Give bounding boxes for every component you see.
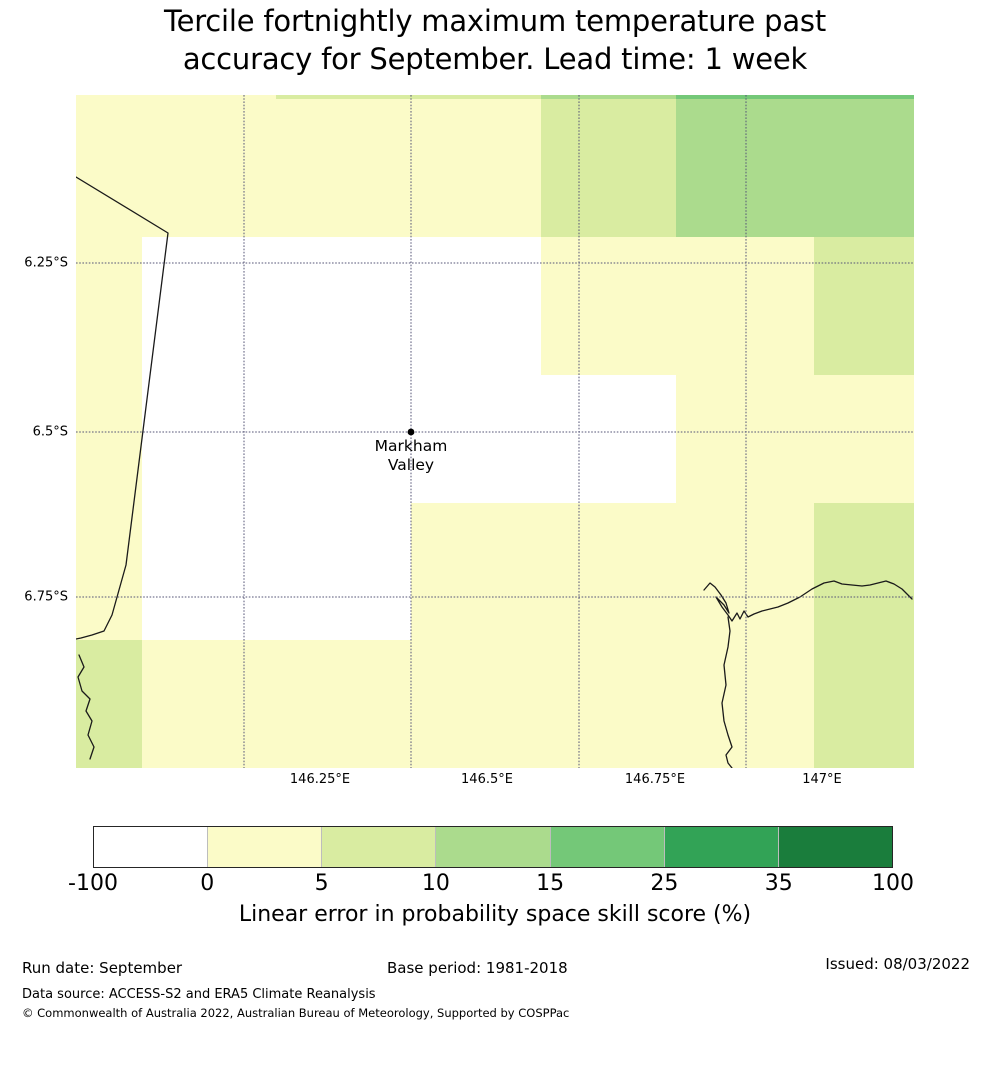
- page-title-line-1: Tercile fortnightly maximum temperature …: [0, 2, 990, 40]
- city-label-line-1: Markham: [375, 437, 448, 455]
- heatmap-cell: [814, 327, 914, 375]
- colorbar-tick-label-3: 10: [422, 872, 450, 896]
- base-period-text: Base period: 1981-2018: [387, 958, 568, 978]
- heatmap-cell: [76, 597, 142, 640]
- heatmap-cell: [411, 597, 814, 640]
- page-title: Tercile fortnightly maximum temperature …: [0, 0, 990, 78]
- colorbar-gradient[interactable]: [93, 826, 893, 868]
- run-date-text: Run date: September: [22, 958, 182, 978]
- heatmap-cell: [541, 95, 676, 99]
- colorbar-tick-label-7: 100: [872, 872, 914, 896]
- data-source-text: Data source: ACCESS-S2 and ERA5 Climate …: [22, 986, 376, 1003]
- colorbar-tick-label-6: 35: [765, 872, 793, 896]
- heatmap-cell: [276, 95, 541, 99]
- longitude-tick-label-3: 147°E: [802, 773, 842, 786]
- colorbar-segment-5[interactable]: [665, 827, 779, 867]
- colorbar-segment-3[interactable]: [436, 827, 550, 867]
- colorbar-tick-label-2: 5: [315, 872, 329, 896]
- skill-score-map[interactable]: Markham Valley: [76, 95, 914, 768]
- heatmap-cell: [814, 597, 914, 640]
- heatmap-cell: [76, 99, 541, 237]
- colorbar-tick-label-5: 25: [650, 872, 678, 896]
- heatmap-cell: [541, 327, 814, 375]
- longitude-tick-label-2: 146.75°E: [625, 773, 685, 786]
- colorbar-segment-4[interactable]: [551, 827, 665, 867]
- heatmap-cell: [76, 375, 142, 503]
- footer-top-row: Run date: September Base period: 1981-20…: [0, 958, 990, 982]
- heatmap-cell: [814, 503, 914, 597]
- heatmap-cell: [541, 237, 814, 327]
- colorbar-tick-label-1: 0: [200, 872, 214, 896]
- heatmap-cell: [541, 99, 641, 237]
- heatmap-cell: [676, 95, 914, 99]
- city-marker-dot[interactable]: [408, 429, 415, 436]
- heatmap-cell: [676, 375, 914, 503]
- map-canvas[interactable]: Markham Valley: [76, 95, 914, 768]
- colorbar: -1000510152535100 Linear error in probab…: [0, 826, 990, 931]
- colorbar-segment-0[interactable]: [94, 827, 208, 867]
- heatmap-cell: [142, 327, 541, 375]
- heatmap-cell: [411, 503, 814, 597]
- colorbar-title: Linear error in probability space skill …: [0, 902, 990, 928]
- longitude-tick-label-0: 146.25°E: [290, 773, 350, 786]
- heatmap-cell: [814, 237, 914, 327]
- colorbar-tick-label-4: 15: [536, 872, 564, 896]
- heatmap-cell: [142, 640, 814, 768]
- heatmap-cell: [76, 237, 142, 327]
- heatmap-cell: [676, 99, 914, 237]
- colorbar-segment-6[interactable]: [779, 827, 892, 867]
- city-label-line-2: Valley: [388, 456, 434, 474]
- heatmap-cell: [142, 597, 411, 640]
- longitude-tick-label-1: 146.5°E: [461, 773, 513, 786]
- colorbar-tick-label-0: -100: [68, 872, 118, 896]
- colorbar-segment-1[interactable]: [208, 827, 322, 867]
- colorbar-segment-2[interactable]: [322, 827, 436, 867]
- heatmap-cell: [142, 503, 411, 597]
- heatmap-cell: [76, 640, 142, 768]
- latitude-tick-label-0: 6.25°S: [24, 257, 68, 270]
- copyright-text: © Commonwealth of Australia 2022, Austra…: [22, 1006, 569, 1021]
- page-title-line-2: accuracy for September. Lead time: 1 wee…: [0, 40, 990, 78]
- issued-date-text: Issued: 08/03/2022: [825, 954, 970, 974]
- footer: Run date: September Base period: 1981-20…: [0, 958, 990, 1063]
- heatmap-cell: [142, 237, 541, 327]
- heatmap-cell: [641, 99, 676, 237]
- latitude-tick-label-1: 6.5°S: [33, 426, 68, 439]
- latitude-tick-label-2: 6.75°S: [24, 591, 68, 604]
- heatmap-cell: [814, 640, 914, 768]
- heatmap-cell: [76, 327, 142, 375]
- heatmap-cell: [76, 95, 276, 99]
